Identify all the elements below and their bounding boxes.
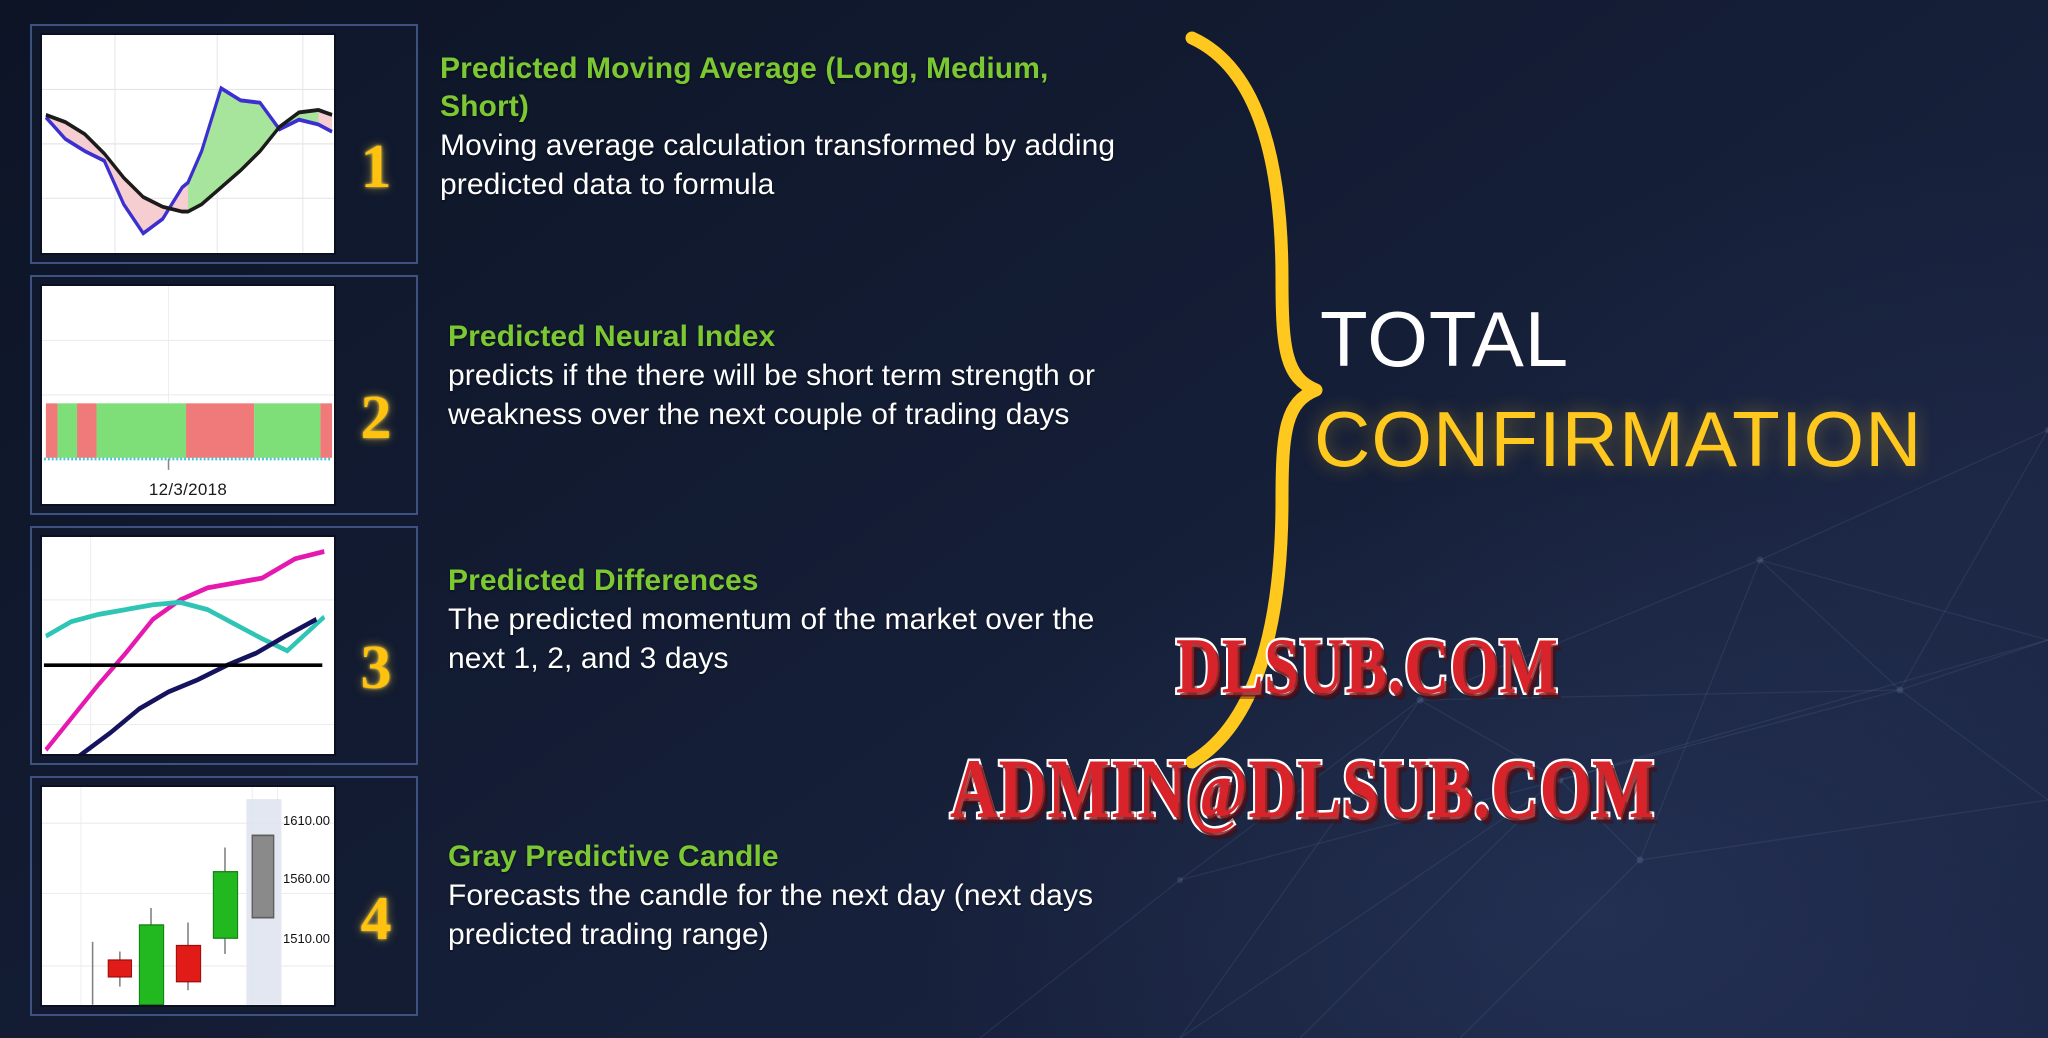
- predicted-differences-chart: [40, 535, 336, 757]
- price-tick-1510: 1510.00: [283, 931, 330, 946]
- predicted-moving-average-chart: [40, 33, 336, 255]
- feature-block-gray-predictive-candle: Gray Predictive Candle Forecasts the can…: [440, 838, 1130, 954]
- panel-number-3: 3: [336, 591, 416, 699]
- feature-body-3: The predicted momentum of the market ove…: [440, 600, 1130, 678]
- headline-line-confirmation: CONFIRMATION: [1314, 400, 2040, 478]
- gray-predictive-candle-chart: 1610.00 1560.00 1510.00: [40, 785, 336, 1007]
- feature-heading-2: Predicted Neural Index: [440, 318, 1130, 356]
- watermark-site: DLSUB.COM: [1176, 622, 1559, 713]
- feature-heading-1: Predicted Moving Average (Long, Medium, …: [440, 50, 1130, 126]
- feature-block-predicted-neural-index: Predicted Neural Index predicts if the t…: [440, 318, 1130, 434]
- watermark-email: ADMIN@DLSUB.COM: [950, 741, 1655, 838]
- price-tick-1560: 1560.00: [283, 871, 330, 886]
- feature-block-list: Predicted Moving Average (Long, Medium, …: [440, 0, 1140, 1038]
- feature-block-predicted-moving-average: Predicted Moving Average (Long, Medium, …: [440, 50, 1130, 204]
- panel-gray-predictive-candle[interactable]: 1610.00 1560.00 1510.00 4: [30, 776, 418, 1016]
- feature-body-1: Moving average calculation transformed b…: [440, 126, 1130, 204]
- panel-predicted-neural-index[interactable]: 12/3/2018 2: [30, 275, 418, 515]
- feature-body-2: predicts if the there will be short term…: [440, 356, 1130, 434]
- feature-heading-4: Gray Predictive Candle: [440, 838, 1130, 876]
- panel-number-4: 4: [336, 842, 416, 950]
- panel-number-1: 1: [336, 90, 416, 198]
- feature-body-4: Forecasts the candle for the next day (n…: [440, 876, 1130, 954]
- feature-block-predicted-differences: Predicted Differences The predicted mome…: [440, 562, 1130, 678]
- headline: TOTAL CONFIRMATION: [1320, 300, 2040, 478]
- neural-index-date-label: 12/3/2018: [42, 480, 334, 500]
- chart-panel-list: 1: [30, 24, 418, 1016]
- panel-predicted-moving-average[interactable]: 1: [30, 24, 418, 264]
- panel-number-2: 2: [336, 341, 416, 449]
- feature-heading-3: Predicted Differences: [440, 562, 1130, 600]
- candle-price-axis: 1610.00 1560.00 1510.00: [260, 787, 332, 1005]
- price-tick-1610: 1610.00: [283, 813, 330, 828]
- headline-line-total: TOTAL: [1320, 300, 2040, 378]
- predicted-neural-index-chart: 12/3/2018: [40, 284, 336, 506]
- panel-predicted-differences[interactable]: 3: [30, 526, 418, 766]
